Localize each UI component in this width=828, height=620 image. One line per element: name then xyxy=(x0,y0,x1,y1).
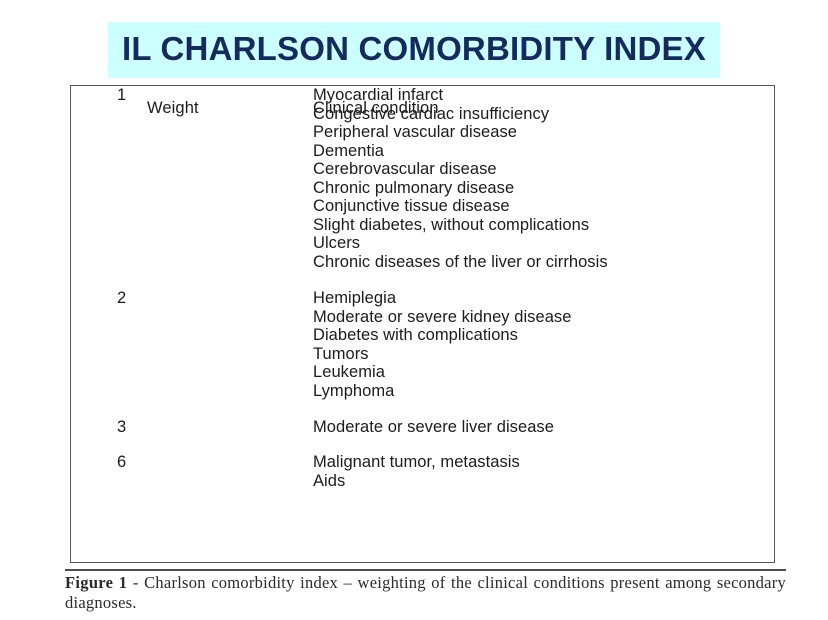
conditions-cell: HemiplegiaModerate or severe kidney dise… xyxy=(243,289,774,400)
page-title: IL CHARLSON COMORBIDITY INDEX xyxy=(108,22,720,78)
condition-item: Moderate or severe kidney disease xyxy=(313,308,773,327)
condition-list: Malignant tumor, metastasisAids xyxy=(313,453,773,490)
column-header-clinical-condition: Clinical condition xyxy=(313,99,439,117)
condition-item: Hemiplegia xyxy=(313,289,773,308)
weight-groups-table: 1Myocardial infarctCongestive cardiac in… xyxy=(71,86,774,490)
condition-item: Tumors xyxy=(313,345,773,364)
condition-item: Dementia xyxy=(313,142,773,161)
condition-item: Diabetes with complications xyxy=(313,326,773,345)
weight-group-row: 3Moderate or severe liver disease xyxy=(71,418,774,437)
weight-cell: 3 xyxy=(71,418,243,437)
condition-list: Moderate or severe liver disease xyxy=(313,418,773,437)
column-header-weight: Weight xyxy=(111,99,199,117)
comorbidity-index-table: Weight Clinical condition xyxy=(71,86,774,132)
weight-value: 3 xyxy=(111,418,126,436)
group-spacer xyxy=(71,400,774,418)
group-spacer-cell xyxy=(71,437,774,453)
condition-item: Slight diabetes, without complications xyxy=(313,216,773,235)
header-cell-weight: Weight xyxy=(71,86,243,132)
weight-value: 6 xyxy=(111,453,126,471)
slide-title-container: IL CHARLSON COMORBIDITY INDEX xyxy=(0,22,828,78)
header-cell-condition: Clinical condition xyxy=(243,86,774,132)
condition-item: Aids xyxy=(313,472,773,491)
condition-list: HemiplegiaModerate or severe kidney dise… xyxy=(313,289,773,400)
group-spacer xyxy=(71,271,774,289)
weight-value: 2 xyxy=(111,289,126,307)
weight-groups-container: 1Myocardial infarctCongestive cardiac in… xyxy=(71,86,774,490)
weight-cell: 2 xyxy=(71,289,243,400)
condition-item: Ulcers xyxy=(313,234,773,253)
weight-groups-body: 1Myocardial infarctCongestive cardiac in… xyxy=(71,86,774,490)
condition-item: Chronic diseases of the liver or cirrhos… xyxy=(313,253,773,272)
condition-item: Chronic pulmonary disease xyxy=(313,179,773,198)
conditions-cell: Moderate or severe liver disease xyxy=(243,418,774,437)
caption-text: - Charlson comorbidity index – weighting… xyxy=(65,573,786,612)
table-body: Weight Clinical condition xyxy=(71,86,774,132)
weight-cell: 6 xyxy=(71,453,243,490)
condition-item: Cerebrovascular disease xyxy=(313,160,773,179)
conditions-cell: Malignant tumor, metastasisAids xyxy=(243,453,774,490)
group-spacer-cell xyxy=(71,271,774,289)
figure-table-box: Weight Clinical condition 1Myocardial in… xyxy=(70,85,775,563)
weight-group-row: 2HemiplegiaModerate or severe kidney dis… xyxy=(71,289,774,400)
condition-item: Conjunctive tissue disease xyxy=(313,197,773,216)
caption-figure-label: Figure 1 xyxy=(65,573,127,592)
caption-divider xyxy=(65,569,786,571)
table-header-row: Weight Clinical condition xyxy=(71,86,774,132)
figure-caption: Figure 1 - Charlson comorbidity index – … xyxy=(65,573,786,613)
group-spacer-cell xyxy=(71,400,774,418)
condition-item: Leukemia xyxy=(313,363,773,382)
condition-item: Malignant tumor, metastasis xyxy=(313,453,773,472)
condition-item: Lymphoma xyxy=(313,382,773,401)
weight-group-row: 6Malignant tumor, metastasisAids xyxy=(71,453,774,490)
group-spacer xyxy=(71,437,774,453)
condition-item: Moderate or severe liver disease xyxy=(313,418,773,437)
